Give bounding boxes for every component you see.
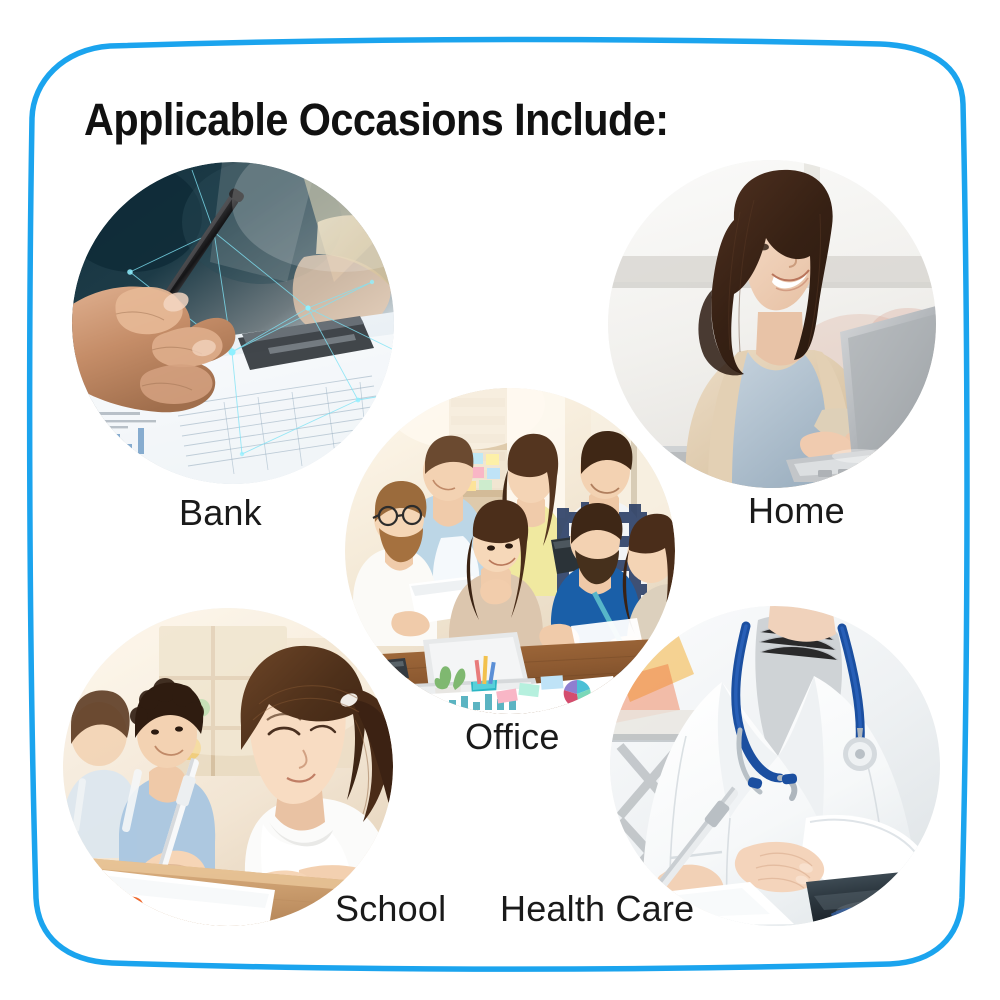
occasion-label-office: Office bbox=[465, 716, 560, 758]
office-photo bbox=[345, 388, 675, 714]
home-photo bbox=[608, 160, 936, 488]
occasion-label-home: Home bbox=[748, 490, 845, 532]
school-photo bbox=[63, 608, 393, 926]
occasion-label-bank: Bank bbox=[179, 492, 262, 534]
health-care-photo bbox=[610, 606, 940, 926]
page-title: Applicable Occasions Include: bbox=[84, 94, 668, 146]
occasion-label-health: Health Care bbox=[500, 888, 694, 930]
bank-photo bbox=[72, 162, 394, 484]
occasion-label-school: School bbox=[335, 888, 446, 930]
promo-card: Applicable Occasions Include: bbox=[0, 0, 1000, 1000]
